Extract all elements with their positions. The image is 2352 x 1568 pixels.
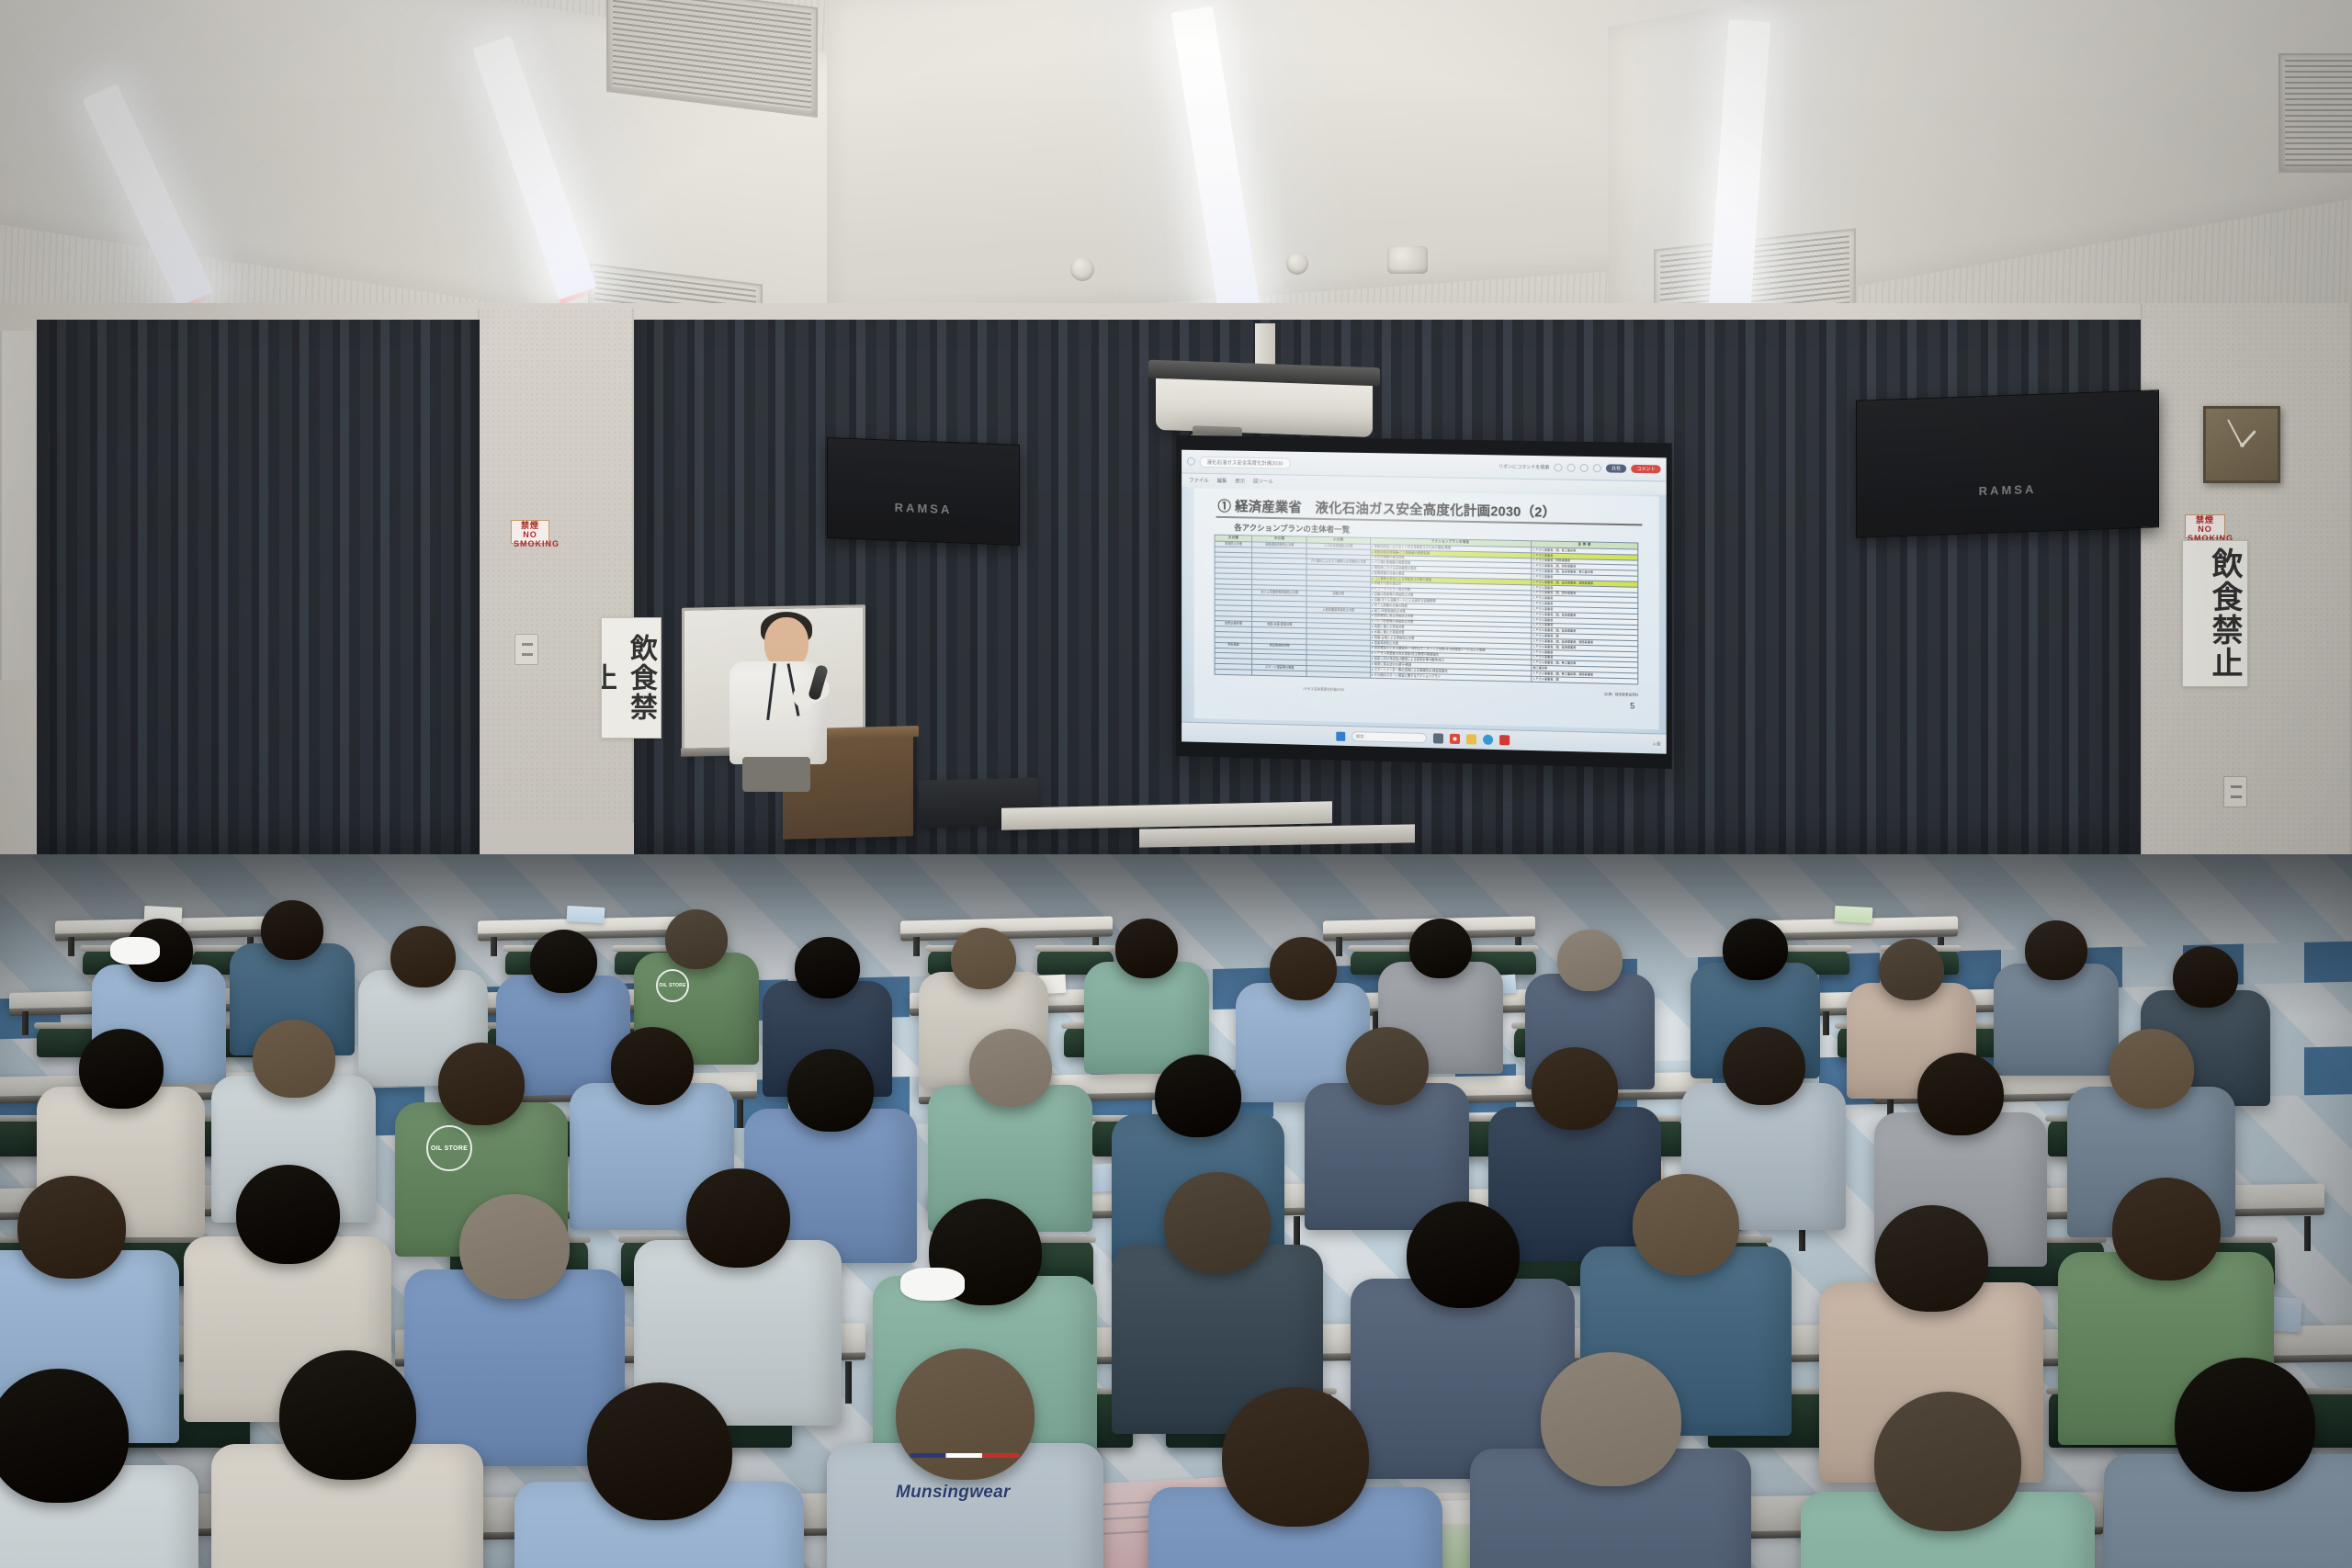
edge-icon[interactable] bbox=[1483, 735, 1493, 745]
home-icon[interactable] bbox=[1187, 457, 1195, 466]
attendee-head bbox=[261, 900, 323, 960]
wall-column-far-left bbox=[0, 331, 37, 680]
slide-source-note: （出典）経済産業省資料 bbox=[1601, 693, 1638, 698]
desk-leg bbox=[22, 1011, 28, 1035]
attendee-head bbox=[1633, 1174, 1739, 1275]
ceiling-smoke-detector bbox=[1070, 257, 1094, 281]
attendee-head bbox=[2025, 920, 2087, 980]
attendee-head bbox=[236, 1165, 340, 1264]
ribbon-search-label[interactable]: リボンにコマンドを検索 bbox=[1498, 463, 1549, 470]
munsingwear-logo: Munsingwear bbox=[896, 1483, 1011, 1503]
taskbar-tray[interactable]: A 般 bbox=[1653, 741, 1661, 747]
attendee-head bbox=[1155, 1055, 1241, 1137]
maximize-icon[interactable] bbox=[1580, 464, 1589, 472]
folder-icon[interactable] bbox=[1466, 734, 1476, 744]
attendee-head bbox=[459, 1194, 570, 1299]
audience-member bbox=[2104, 1358, 2352, 1568]
attendee-head bbox=[1917, 1053, 2004, 1135]
oil-store-logo: OIL STORE bbox=[656, 969, 689, 1002]
attendee-head bbox=[2175, 1358, 2315, 1492]
attendee-head bbox=[951, 928, 1016, 989]
attendee-head bbox=[1541, 1352, 1681, 1486]
attendee-head bbox=[969, 1029, 1052, 1107]
speaker-brand-label: RAMSA bbox=[1979, 481, 2037, 497]
handout-document[interactable] bbox=[1835, 906, 1873, 923]
attendee-head bbox=[1874, 1392, 2021, 1531]
no-eating-drinking-sign-left: 飲食禁止 bbox=[601, 617, 661, 739]
polo-collar-stripe bbox=[910, 1453, 1020, 1458]
face-mask bbox=[110, 937, 160, 964]
comments-button[interactable]: コメント bbox=[1631, 465, 1660, 474]
attendee-head bbox=[896, 1348, 1035, 1480]
face-mask bbox=[900, 1268, 965, 1301]
slide-subtitle: 各アクションプランの主体者一覧 bbox=[1234, 522, 1350, 535]
attendee-head bbox=[587, 1382, 732, 1520]
table-cell bbox=[1306, 671, 1370, 677]
menu-item-view[interactable]: 表示 bbox=[1235, 477, 1245, 484]
search-icon[interactable] bbox=[1554, 463, 1562, 471]
attendee-head bbox=[17, 1176, 126, 1279]
audience-member bbox=[514, 1382, 804, 1568]
seminar-room-photo: 禁煙 NO SMOKING 禁煙 NO SMOKING 飲食禁止 飲食禁止 RA… bbox=[0, 0, 2352, 1568]
table-cell bbox=[1215, 669, 1252, 675]
attendee-head bbox=[611, 1027, 694, 1105]
presenter bbox=[726, 617, 836, 783]
action-plan-table: 大分類中分類小分類アクションプランの項目主 体 者 事故防止対策消費段階事故防止… bbox=[1215, 535, 1639, 685]
ceiling-speaker-left: RAMSA bbox=[827, 437, 1020, 546]
attendee-head bbox=[0, 1369, 129, 1503]
attendee-head bbox=[1723, 919, 1788, 980]
attendee-head bbox=[1532, 1047, 1618, 1130]
projection-screen: 液化石油ガス安全高度化計画2030 リボンにコマンドを検索 共有 コメント ファ… bbox=[1182, 450, 1667, 754]
attendee-head bbox=[795, 937, 860, 998]
acrobat-icon[interactable] bbox=[1499, 735, 1510, 745]
attendee-head bbox=[2173, 946, 2238, 1008]
attendee-head bbox=[1270, 937, 1337, 1000]
ceiling-projector bbox=[1156, 373, 1373, 437]
audience-member: Munsingwear bbox=[827, 1348, 1103, 1568]
close-icon[interactable] bbox=[1593, 464, 1601, 472]
attendee-head bbox=[438, 1043, 525, 1125]
attendee-head bbox=[665, 909, 728, 969]
attendee-head bbox=[253, 1020, 335, 1098]
attendee-head bbox=[1557, 930, 1623, 991]
wall-column-left bbox=[478, 309, 634, 823]
handout-document[interactable] bbox=[567, 906, 605, 923]
ceiling-sensor bbox=[1286, 253, 1308, 275]
share-button[interactable]: 共有 bbox=[1606, 464, 1626, 472]
slide-footer-note: LPガス安全高度化計画2030 bbox=[1304, 687, 1344, 693]
desk-leg bbox=[737, 1100, 743, 1128]
attendee-head bbox=[390, 926, 456, 987]
attendee-head bbox=[686, 1168, 790, 1268]
oil-store-logo: OIL STORE bbox=[426, 1125, 472, 1171]
presenter-shirt bbox=[729, 661, 827, 764]
attendee-head bbox=[1164, 1172, 1271, 1273]
attendee-head bbox=[787, 1049, 874, 1132]
audience-member bbox=[1148, 1387, 1442, 1568]
attendee-head bbox=[1723, 1027, 1805, 1105]
presenter-trousers bbox=[742, 757, 810, 792]
menu-item-design[interactable]: 図ツール bbox=[1253, 478, 1273, 485]
attendee-head bbox=[1409, 919, 1472, 978]
wall-power-outlet[interactable] bbox=[2223, 776, 2247, 807]
attendee-head bbox=[1879, 939, 1944, 1000]
no-eating-drinking-sign-right: 飲食禁止 bbox=[2182, 540, 2248, 687]
audience-member bbox=[0, 1369, 198, 1568]
minimize-icon[interactable] bbox=[1567, 464, 1576, 472]
desk-leg bbox=[68, 937, 74, 956]
window-tab-label[interactable]: 液化石油ガス安全高度化計画2030 bbox=[1200, 456, 1291, 468]
wall-power-outlet[interactable] bbox=[514, 634, 538, 665]
ceiling-air-vent bbox=[2278, 53, 2352, 173]
no-smoking-sign-right: 禁煙 NO SMOKING bbox=[2185, 514, 2225, 538]
slide-content: ① 経済産業省 液化石油ガス安全高度化計画2030（2） 各アクションプランの主… bbox=[1194, 489, 1659, 730]
audience-member bbox=[1470, 1352, 1751, 1568]
attendee-head bbox=[1346, 1027, 1429, 1105]
chrome-icon[interactable] bbox=[1450, 734, 1460, 744]
window-curtain-left bbox=[37, 320, 480, 889]
table-cell bbox=[1252, 670, 1306, 676]
attendee-head bbox=[1115, 919, 1178, 978]
audience-member bbox=[211, 1350, 483, 1568]
attendee-head bbox=[1875, 1205, 1988, 1312]
audience-member bbox=[1801, 1392, 2095, 1568]
attendee-head bbox=[1222, 1387, 1369, 1527]
attendee-head bbox=[2109, 1029, 2194, 1109]
no-smoking-sign-left: 禁煙 NO SMOKING bbox=[511, 520, 549, 544]
attendee-head bbox=[79, 1029, 164, 1109]
speaker-brand-label: RAMSA bbox=[895, 501, 953, 516]
menu-item-edit[interactable]: 編集 bbox=[1217, 477, 1227, 484]
slide-page-number: 5 bbox=[1630, 701, 1634, 710]
wall-clock bbox=[2203, 406, 2280, 483]
attendee-head bbox=[530, 930, 597, 993]
ceiling-speaker-right: RAMSA bbox=[1856, 389, 2159, 538]
taskbar-search-input[interactable]: 検索 bbox=[1351, 731, 1427, 743]
start-icon[interactable] bbox=[1336, 731, 1345, 740]
desk-leg bbox=[2304, 1216, 2311, 1251]
ceiling-access-panel bbox=[1387, 246, 1428, 274]
attendee-head bbox=[1407, 1201, 1520, 1308]
menu-item-file[interactable]: ファイル bbox=[1189, 477, 1209, 484]
projection-screen-frame: 液化石油ガス安全高度化計画2030 リボンにコマンドを検索 共有 コメント ファ… bbox=[1176, 435, 1672, 769]
attendee-head bbox=[279, 1350, 416, 1480]
attendee-head bbox=[2112, 1178, 2221, 1280]
slide-title: ① 経済産業省 液化石油ガス安全高度化計画2030（2） bbox=[1218, 496, 1648, 524]
file-explorer-icon[interactable] bbox=[1432, 733, 1442, 743]
